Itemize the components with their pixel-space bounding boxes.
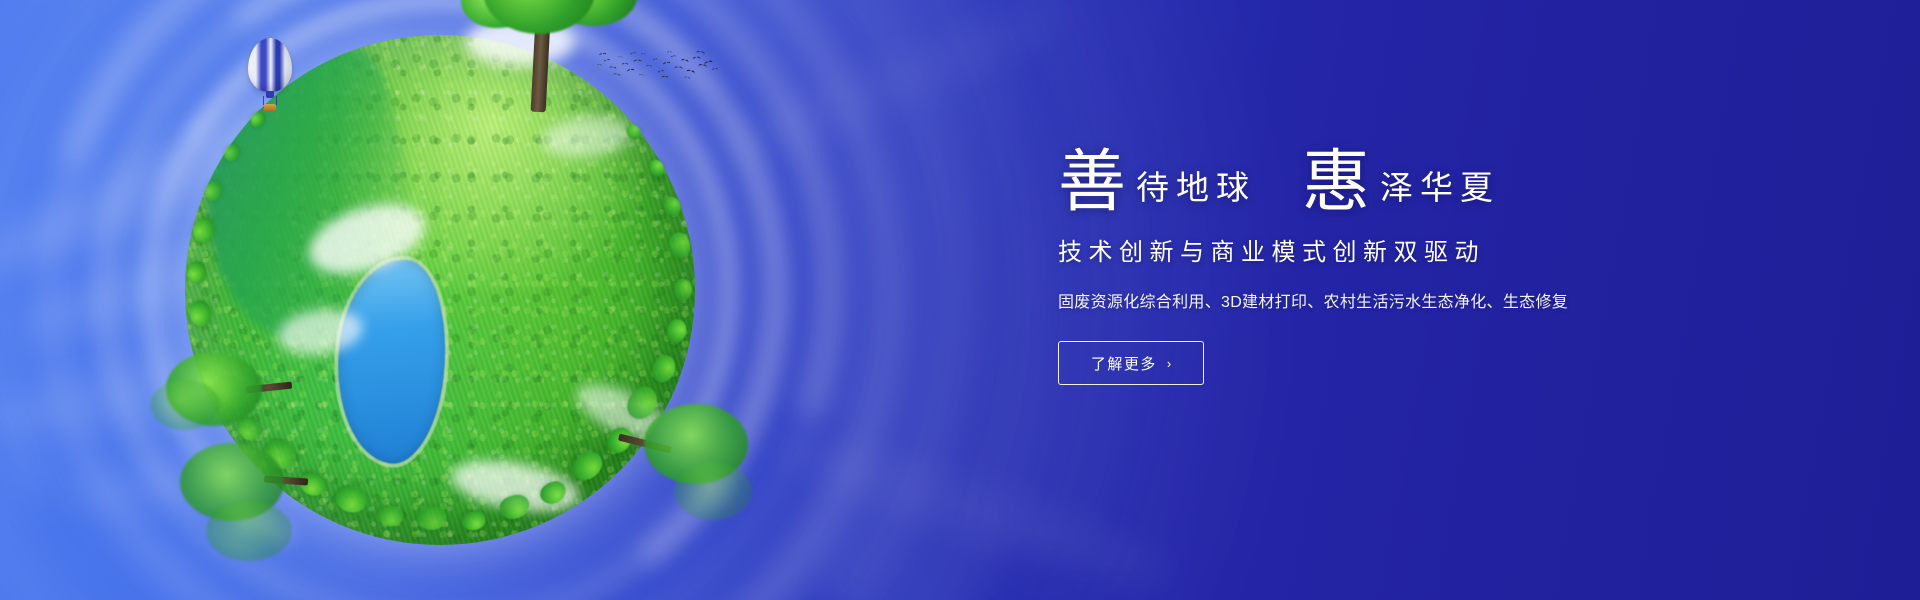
page-title: 善 待地球 惠 泽华夏: [1058, 132, 1838, 210]
chevron-right-icon: ›: [1167, 357, 1171, 370]
headline-part1-primary: 善: [1058, 148, 1126, 216]
bird-flock-icon: [596, 50, 716, 84]
hero-description: 固废资源化综合利用、3D建材打印、农村生活污水生态净化、生态修复: [1058, 288, 1838, 312]
learn-more-label: 了解更多: [1091, 353, 1157, 374]
hero-banner: 善 待地球 惠 泽华夏 技术创新与商业模式创新双驱动 固废资源化综合利用、3D建…: [0, 0, 1920, 600]
headline-part2-secondary: 泽华夏: [1370, 173, 1500, 206]
balloon-basket: [264, 104, 276, 112]
headline-part2-primary: 惠: [1302, 148, 1370, 216]
hero-copy-block: 善 待地球 惠 泽华夏 技术创新与商业模式创新双驱动 固废资源化综合利用、3D建…: [1058, 132, 1838, 385]
learn-more-button[interactable]: 了解更多 ›: [1058, 341, 1204, 385]
hot-air-balloon-icon: [248, 38, 292, 116]
balloon-envelope: [248, 38, 292, 92]
hero-subtitle: 技术创新与商业模式创新双驱动: [1058, 232, 1838, 267]
headline-part1-secondary: 待地球: [1126, 173, 1256, 206]
